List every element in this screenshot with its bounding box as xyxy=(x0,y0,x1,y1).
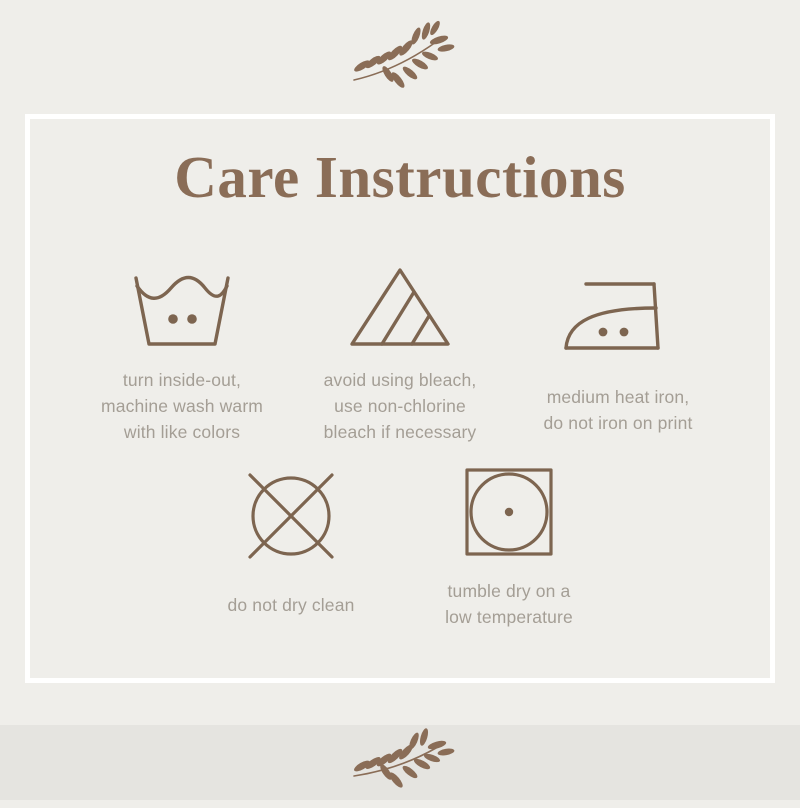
icon-row-2: do not dry clean tumble dry on a low tem… xyxy=(30,464,770,631)
care-item-tumble-dry: tumble dry on a low temperature xyxy=(400,464,618,631)
icon-row-1: turn inside-out, machine wash warm with … xyxy=(30,259,770,446)
care-card-frame: Care Instructions turn inside-out, machi… xyxy=(25,114,775,683)
care-item-wash: turn inside-out, machine wash warm with … xyxy=(73,259,291,446)
do-not-dry-clean-icon xyxy=(241,468,341,563)
page-title: Care Instructions xyxy=(30,143,770,212)
botanical-sprig-icon-top xyxy=(340,18,460,98)
iron-icon xyxy=(558,268,678,363)
care-item-caption: tumble dry on a low temperature xyxy=(445,579,573,631)
bleach-triangle-icon xyxy=(344,259,456,354)
wash-tub-icon xyxy=(122,259,242,354)
care-item-caption: turn inside-out, machine wash warm with … xyxy=(101,368,263,446)
care-item-dry-clean: do not dry clean xyxy=(182,468,400,619)
care-item-bleach: avoid using bleach, use non-chlorine ble… xyxy=(291,259,509,446)
tumble-dry-icon xyxy=(461,464,557,559)
care-item-caption: do not dry clean xyxy=(228,593,355,619)
care-item-caption: avoid using bleach, use non-chlorine ble… xyxy=(324,368,477,446)
care-item-caption: medium heat iron, do not iron on print xyxy=(544,385,693,437)
botanical-sprig-icon-bottom xyxy=(340,728,460,808)
care-item-iron: medium heat iron, do not iron on print xyxy=(509,268,727,437)
